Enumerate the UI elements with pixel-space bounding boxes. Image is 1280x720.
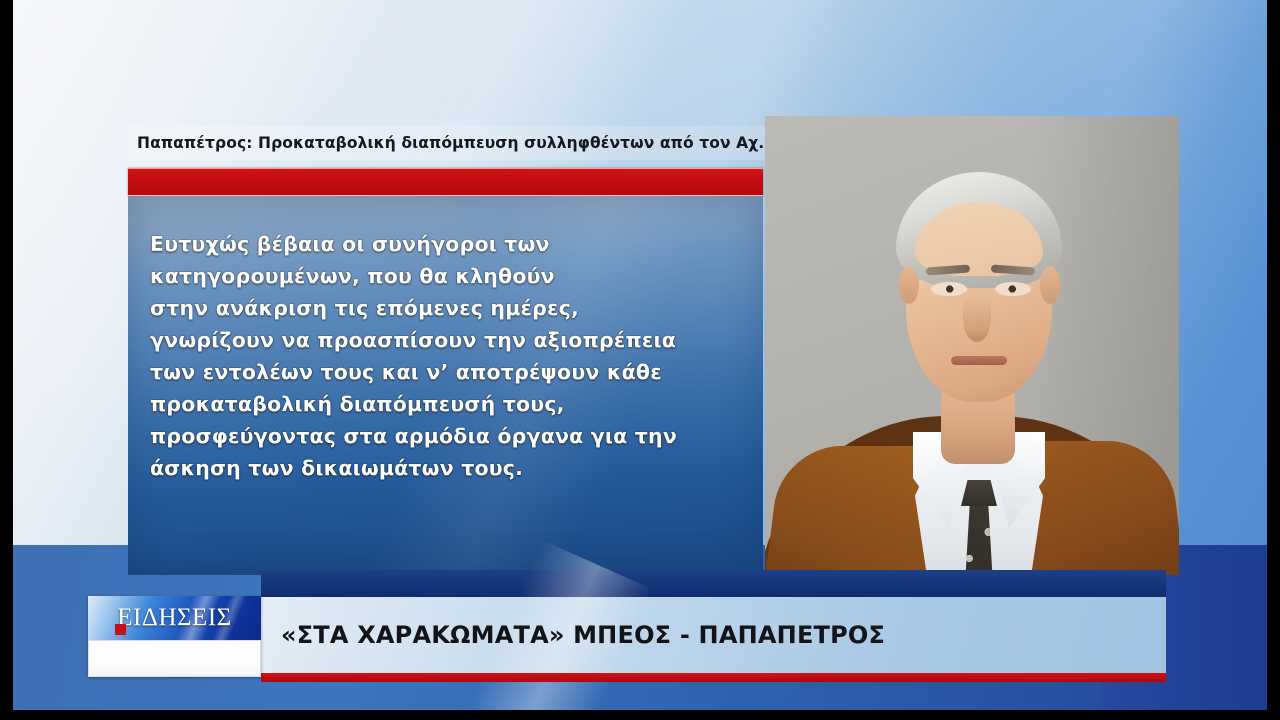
banner-top-strip — [261, 570, 1166, 597]
headline-red-underline — [261, 673, 1166, 682]
logo-red-square-icon — [115, 624, 126, 635]
channel-logo-block: ΕΙΔΗΣΕΙΣ — [88, 596, 261, 677]
speaker-portrait-photo — [765, 116, 1179, 575]
letterbox-bar-left — [0, 0, 13, 720]
lower-third-banner: «ΣΤΑ ΧΑΡΑΚΩΜΑΤΑ» ΜΠΕΟΣ - ΠΑΠΑΠΕΤΡΟΣ ΕΙΔΗ… — [73, 570, 1166, 682]
portrait-eye-right — [995, 282, 1031, 296]
logo-white-plate — [88, 640, 261, 677]
quote-panel: Ευτυχώς βέβαια οι συνήγοροι των κατηγορο… — [128, 196, 763, 575]
portrait-ear-right — [1040, 266, 1060, 304]
portrait-mouth — [951, 356, 1007, 365]
caption-source-line: Παπαπέτρος: Προκαταβολική διαπόμπευση συ… — [127, 126, 765, 160]
tv-screenshot: Παπαπέτρος: Προκαταβολική διαπόμπευση συ… — [0, 0, 1280, 720]
channel-logo-plate: ΕΙΔΗΣΕΙΣ — [88, 596, 261, 640]
caption-red-divider — [128, 168, 763, 196]
channel-logo-text: ΕΙΔΗΣΕΙΣ — [117, 604, 231, 632]
headline-bar: «ΣΤΑ ΧΑΡΑΚΩΜΑΤΑ» ΜΠΕΟΣ - ΠΑΠΑΠΕΤΡΟΣ — [261, 597, 1166, 673]
portrait-chin — [935, 368, 1025, 402]
headline-text: «ΣΤΑ ΧΑΡΑΚΩΜΑΤΑ» ΜΠΕΟΣ - ΠΑΠΑΠΕΤΡΟΣ — [261, 621, 885, 649]
letterbox-bar-right — [1267, 0, 1280, 720]
portrait-eye-left — [931, 282, 967, 296]
letterbox-bar-bottom — [0, 710, 1280, 720]
portrait-ear-left — [899, 266, 919, 304]
quote-text: Ευτυχώς βέβαια οι συνήγοροι των κατηγορο… — [150, 228, 750, 484]
broadcast-video-frame: Παπαπέτρος: Προκαταβολική διαπόμπευση συ… — [13, 0, 1267, 710]
portrait-nose — [963, 296, 991, 342]
